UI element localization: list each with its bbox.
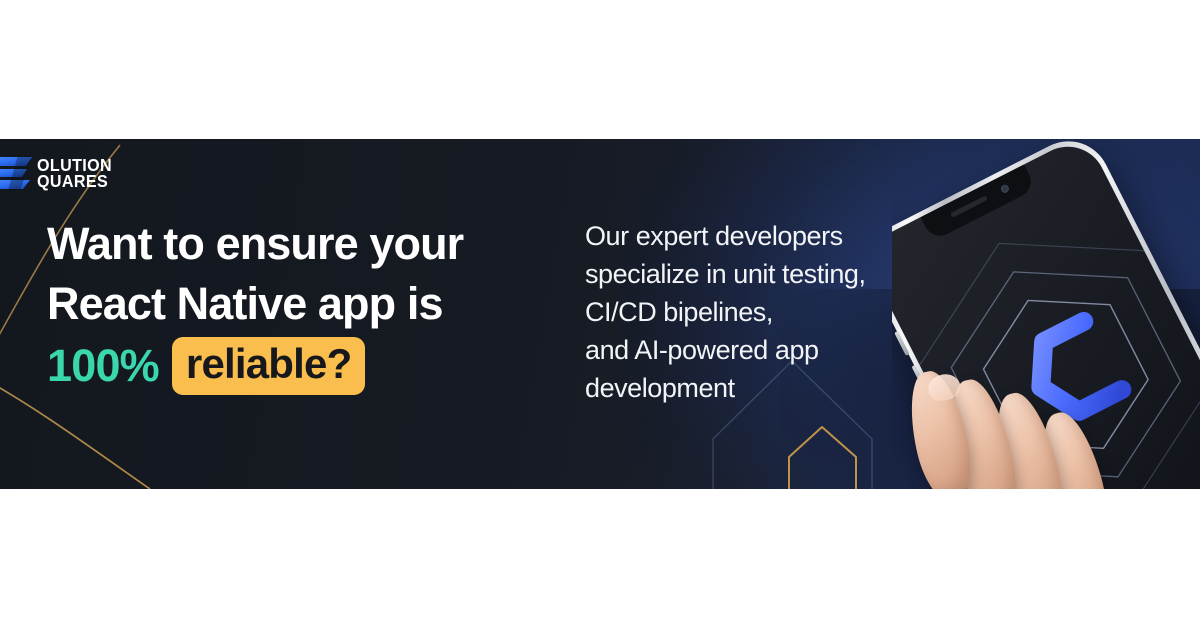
headline-line-2: React Native app is bbox=[47, 274, 567, 334]
phone-artwork bbox=[892, 139, 1200, 489]
body-line-3: CI/CD bipelines, bbox=[585, 293, 915, 331]
solution-squares-logo-mark bbox=[0, 151, 34, 195]
headline-highlight-pill: reliable? bbox=[172, 337, 366, 395]
body-copy-block: Our expert developers specialize in unit… bbox=[585, 217, 915, 407]
logo-text-line2: QUARES bbox=[37, 173, 112, 189]
headline-line-3: 100% reliable? bbox=[47, 335, 567, 397]
brand-logo[interactable]: OLUTION QUARES bbox=[0, 146, 119, 200]
promo-banner: OLUTION QUARES Want to ensure your React… bbox=[0, 139, 1200, 489]
phone-earpiece bbox=[950, 195, 988, 218]
phone-front-camera-icon bbox=[1000, 183, 1011, 194]
body-line-4: and AI-powered app bbox=[585, 331, 915, 369]
page-canvas: OLUTION QUARES Want to ensure your React… bbox=[0, 0, 1200, 628]
body-line-2: specialize in unit testing, bbox=[585, 255, 915, 293]
headline-accent-percent: 100% bbox=[47, 335, 159, 397]
headline-line-1: Want to ensure your bbox=[47, 214, 567, 274]
body-line-5: development bbox=[585, 369, 915, 407]
body-line-1: Our expert developers bbox=[585, 217, 915, 255]
headline-block: Want to ensure your React Native app is … bbox=[47, 214, 567, 397]
